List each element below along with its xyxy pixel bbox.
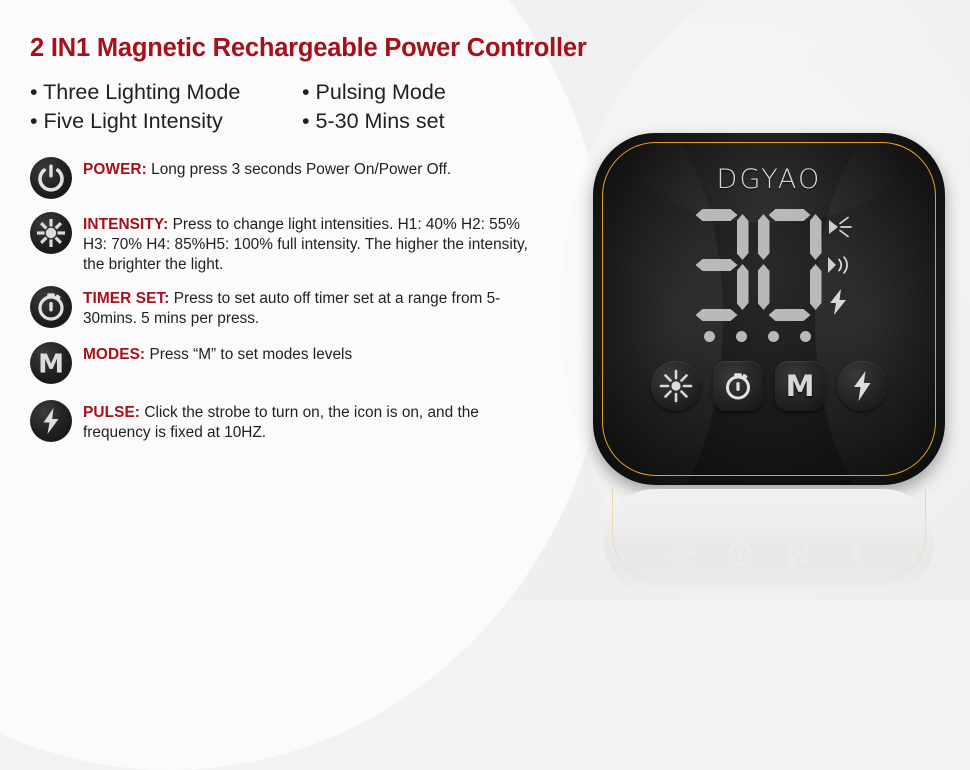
instruction-row-pulse: PULSE: Click the strobe to turn on, the … — [30, 399, 550, 443]
instruction-text: MODES: Press “M” to set modes levels — [83, 341, 352, 365]
instruction-text: PULSE: Click the strobe to turn on, the … — [83, 399, 535, 443]
svg-text:M: M — [38, 349, 64, 379]
instruction-row-timer: TIMER SET: Press to set auto off timer s… — [30, 285, 550, 329]
reflection-fade — [604, 489, 934, 593]
level-dot — [736, 331, 747, 342]
instruction-text: POWER: Long press 3 seconds Power On/Pow… — [83, 156, 451, 180]
lcd-digits — [684, 209, 823, 321]
device-reflection: M — [604, 489, 934, 593]
instruction-row-intensity: INTENSITY: Press to change light intensi… — [30, 211, 550, 275]
feature-item: • Five Light Intensity — [30, 107, 302, 135]
letter-m-icon: M — [30, 342, 72, 384]
instruction-label: TIMER SET: — [83, 290, 170, 307]
instruction-text: TIMER SET: Press to set auto off timer s… — [83, 285, 535, 329]
sunburst-icon — [30, 212, 72, 254]
instruction-body: Press “M” to set modes levels — [145, 346, 352, 363]
instruction-row-power: POWER: Long press 3 seconds Power On/Pow… — [30, 156, 550, 199]
level-dot — [800, 331, 811, 342]
page-title: 2 IN1 Magnetic Rechargeable Power Contro… — [30, 34, 550, 62]
lcd-display — [593, 209, 945, 321]
lcd-indicators — [825, 209, 855, 317]
instruction-row-modes: M MODES: Press “M” to set modes levels — [30, 341, 550, 384]
instruction-body: Long press 3 seconds Power On/Power Off. — [147, 161, 451, 178]
instruction-list: POWER: Long press 3 seconds Power On/Pow… — [30, 156, 550, 443]
brand-logo: DGYAO — [593, 164, 945, 195]
modes-button-label: M — [775, 361, 825, 411]
lcd-digit-ones — [757, 209, 823, 321]
instruction-label: PULSE: — [83, 404, 140, 421]
instruction-label: INTENSITY: — [83, 216, 168, 233]
product-device: DGYAO — [593, 133, 945, 485]
instruction-label: POWER: — [83, 161, 147, 178]
timer-button[interactable] — [713, 361, 763, 411]
instruction-body: Click the strobe to turn on, the icon is… — [83, 404, 479, 441]
bolt-indicator — [825, 287, 855, 317]
lcd-digit-tens — [684, 209, 750, 321]
power-icon — [30, 157, 72, 199]
level-dot — [768, 331, 779, 342]
content-column: 2 IN1 Magnetic Rechargeable Power Contro… — [30, 34, 550, 452]
feature-item: • 5-30 Mins set — [302, 107, 550, 135]
feature-item: • Three Lighting Mode — [30, 78, 302, 106]
feature-item: • Pulsing Mode — [302, 78, 550, 106]
pulse-wave-indicator — [825, 254, 855, 276]
modes-button[interactable]: M — [775, 361, 825, 411]
stopwatch-icon — [30, 286, 72, 328]
device-button-row: M — [593, 361, 945, 411]
lightning-icon — [30, 400, 72, 442]
feature-list: • Three Lighting Mode • Pulsing Mode • F… — [30, 78, 550, 136]
instruction-label: MODES: — [83, 346, 145, 363]
light-beam-indicator — [825, 213, 855, 243]
instruction-text: INTENSITY: Press to change light intensi… — [83, 211, 535, 275]
intensity-button[interactable] — [651, 361, 701, 411]
level-dot — [704, 331, 715, 342]
lcd-level-dots — [593, 331, 945, 342]
pulse-button[interactable] — [837, 361, 887, 411]
